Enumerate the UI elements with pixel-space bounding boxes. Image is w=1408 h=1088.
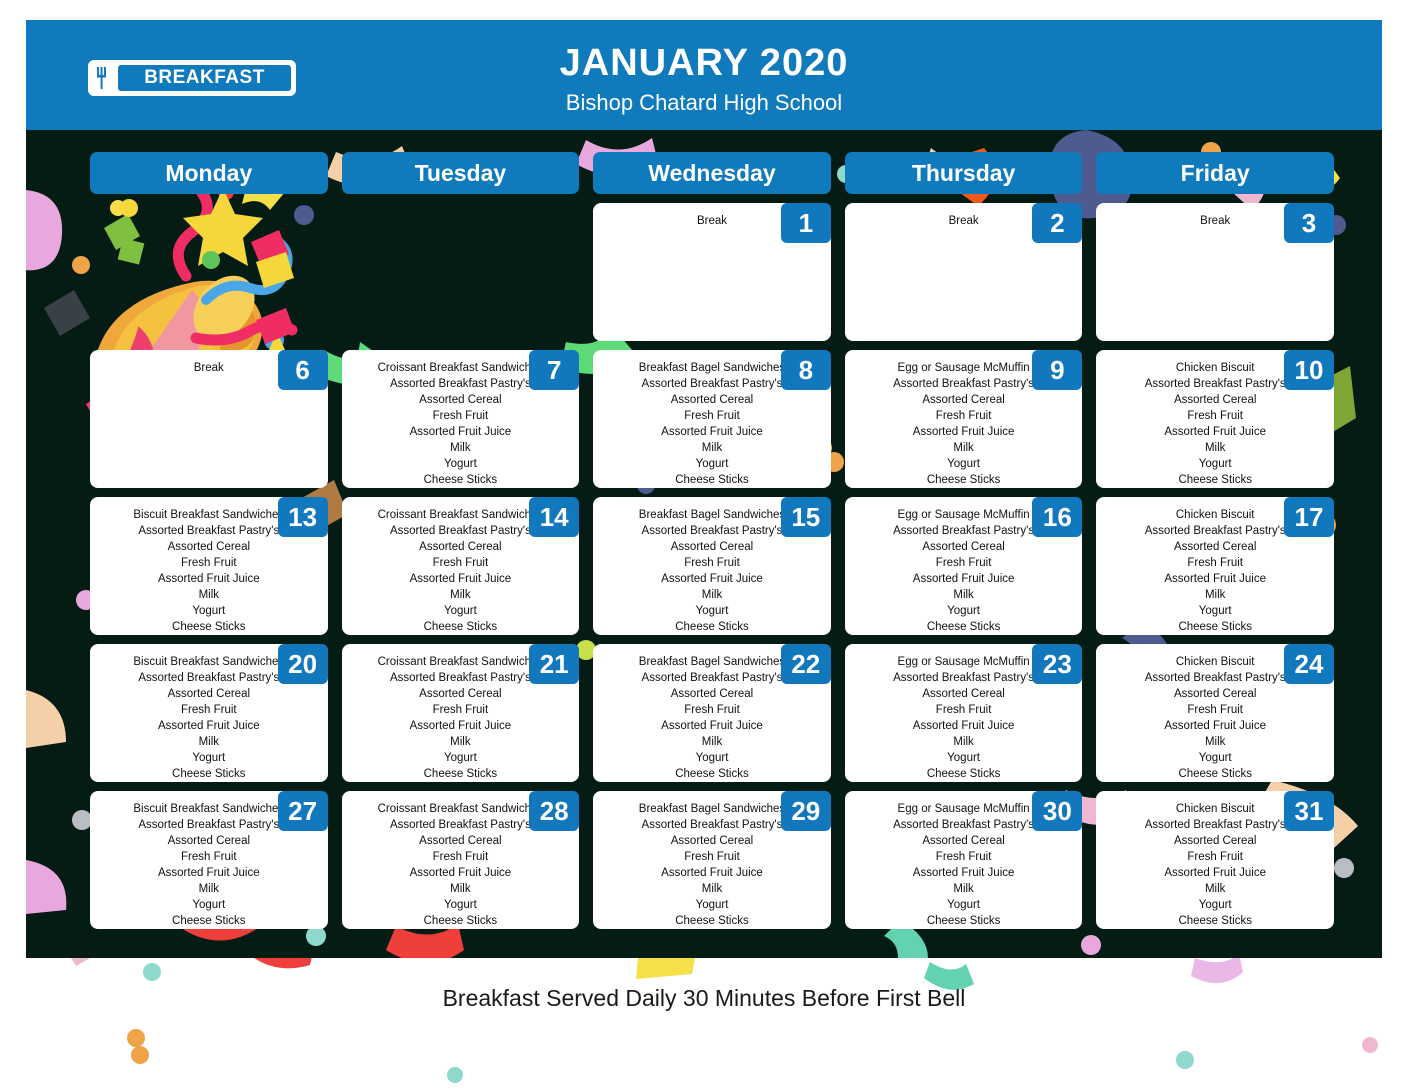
day-cell[interactable]: Break1 [593,203,831,341]
day-number-badge: 6 [278,350,328,390]
menu-item: Milk [1102,440,1328,456]
menu-item: Fresh Fruit [599,849,825,865]
menu-item: Yogurt [599,897,825,913]
menu-item: Cheese Sticks [851,472,1077,488]
menu-item: Yogurt [1102,456,1328,472]
calendar-panel: MondayTuesdayWednesdayThursdayFridayBrea… [26,130,1382,958]
menu-item: Fresh Fruit [599,702,825,718]
weekday-header-tuesday: Tuesday [342,152,580,194]
menu-item: Milk [348,881,574,897]
menu-item: Fresh Fruit [599,555,825,571]
menu-item: Yogurt [96,897,322,913]
menu-item: Cheese Sticks [1102,472,1328,488]
menu-item: Milk [599,440,825,456]
menu-item: Yogurt [348,456,574,472]
day-cell[interactable]: Breakfast Bagel SandwichesAssorted Break… [593,350,831,488]
menu-item: Milk [348,587,574,603]
menu-item: Assorted Cereal [348,392,574,408]
menu-item: Fresh Fruit [851,555,1077,571]
menu-item: Assorted Cereal [851,686,1077,702]
day-cell[interactable]: Egg or Sausage McMuffinAssorted Breakfas… [845,791,1083,929]
day-cell[interactable]: Biscuit Breakfast SandwichesAssorted Bre… [90,644,328,782]
menu-item: Milk [851,587,1077,603]
menu-item: Assorted Fruit Juice [348,718,574,734]
day-cell[interactable]: Break2 [845,203,1083,341]
day-cell-empty [90,203,328,341]
menu-item: Milk [96,734,322,750]
menu-item: Assorted Cereal [851,539,1077,555]
menu-item: Yogurt [599,603,825,619]
menu-item: Assorted Cereal [96,686,322,702]
menu-item: Assorted Fruit Juice [348,424,574,440]
menu-item: Assorted Cereal [599,539,825,555]
menu-item: Milk [1102,881,1328,897]
menu-item: Yogurt [851,456,1077,472]
menu-item: Cheese Sticks [599,766,825,782]
day-number-badge: 8 [781,350,831,390]
menu-item: Milk [599,881,825,897]
day-cell[interactable]: Chicken BiscuitAssorted Breakfast Pastry… [1096,350,1334,488]
day-number-badge: 31 [1284,791,1334,831]
menu-item: Milk [96,587,322,603]
menu-item: Assorted Fruit Juice [851,865,1077,881]
menu-item: Fresh Fruit [348,849,574,865]
menu-item: Milk [851,734,1077,750]
menu-item: Cheese Sticks [851,766,1077,782]
day-number-badge: 28 [529,791,579,831]
menu-item: Assorted Fruit Juice [599,571,825,587]
menu-item: Yogurt [851,897,1077,913]
day-cell[interactable]: Egg or Sausage McMuffinAssorted Breakfas… [845,497,1083,635]
menu-item: Cheese Sticks [96,766,322,782]
day-number-badge: 14 [529,497,579,537]
menu-item: Fresh Fruit [599,408,825,424]
menu-item: Assorted Cereal [599,833,825,849]
footer-note: Breakfast Served Daily 30 Minutes Before… [0,985,1408,1012]
day-cell[interactable]: Breakfast Bagel SandwichesAssorted Break… [593,791,831,929]
menu-item: Assorted Cereal [1102,392,1328,408]
menu-item: Yogurt [348,750,574,766]
menu-item: Milk [1102,587,1328,603]
menu-item: Assorted Fruit Juice [1102,424,1328,440]
menu-item: Cheese Sticks [348,472,574,488]
menu-item: Yogurt [599,456,825,472]
menu-item: Assorted Cereal [348,833,574,849]
menu-item: Fresh Fruit [1102,555,1328,571]
menu-item: Yogurt [348,897,574,913]
menu-item: Assorted Cereal [851,833,1077,849]
day-number-badge: 20 [278,644,328,684]
weekday-header-friday: Friday [1096,152,1334,194]
menu-item: Fresh Fruit [348,702,574,718]
menu-item: Assorted Fruit Juice [1102,571,1328,587]
day-number-badge: 21 [529,644,579,684]
menu-item: Assorted Cereal [1102,539,1328,555]
day-cell[interactable]: Chicken BiscuitAssorted Breakfast Pastry… [1096,497,1334,635]
day-cell[interactable]: Egg or Sausage McMuffinAssorted Breakfas… [845,644,1083,782]
menu-item: Yogurt [96,603,322,619]
menu-item: Cheese Sticks [1102,913,1328,929]
menu-item: Fresh Fruit [1102,849,1328,865]
menu-item: Assorted Cereal [851,392,1077,408]
weekday-header-monday: Monday [90,152,328,194]
menu-item: Assorted Fruit Juice [599,424,825,440]
menu-item: Assorted Fruit Juice [851,571,1077,587]
day-number-badge: 24 [1284,644,1334,684]
menu-item: Fresh Fruit [96,702,322,718]
menu-item: Fresh Fruit [348,555,574,571]
menu-item: Yogurt [96,750,322,766]
menu-item: Assorted Fruit Juice [851,424,1077,440]
calendar-header: BREAKFAST JANUARY 2020 Bishop Chatard Hi… [26,20,1382,130]
menu-item: Assorted Cereal [96,833,322,849]
menu-item: Fresh Fruit [1102,702,1328,718]
day-number-badge: 16 [1032,497,1082,537]
day-number-badge: 9 [1032,350,1082,390]
menu-item: Milk [599,734,825,750]
day-cell[interactable]: Egg or Sausage McMuffinAssorted Breakfas… [845,350,1083,488]
menu-item: Milk [348,440,574,456]
menu-item: Assorted Cereal [599,686,825,702]
menu-item: Milk [851,881,1077,897]
menu-item: Assorted Fruit Juice [599,865,825,881]
menu-item: Fresh Fruit [96,849,322,865]
menu-item: Yogurt [348,603,574,619]
day-number-badge: 27 [278,791,328,831]
day-cell[interactable]: Chicken BiscuitAssorted Breakfast Pastry… [1096,644,1334,782]
menu-item: Assorted Fruit Juice [348,571,574,587]
day-number-badge: 2 [1032,203,1082,243]
menu-item: Fresh Fruit [851,702,1077,718]
menu-item: Assorted Fruit Juice [96,865,322,881]
menu-item: Milk [851,440,1077,456]
school-name: Bishop Chatard High School [26,90,1382,116]
day-number-badge: 29 [781,791,831,831]
menu-item: Fresh Fruit [851,408,1077,424]
menu-item: Cheese Sticks [96,619,322,635]
day-cell[interactable]: Break6 [90,350,328,488]
menu-item: Assorted Fruit Juice [1102,865,1328,881]
calendar-grid: MondayTuesdayWednesdayThursdayFridayBrea… [90,152,1334,929]
day-cell[interactable]: Breakfast Bagel SandwichesAssorted Break… [593,497,831,635]
menu-item: Cheese Sticks [1102,619,1328,635]
menu-item: Assorted Cereal [96,539,322,555]
menu-item: Yogurt [1102,897,1328,913]
day-cell-empty [342,203,580,341]
menu-item: Assorted Fruit Juice [599,718,825,734]
menu-item: Cheese Sticks [599,619,825,635]
day-number-badge: 17 [1284,497,1334,537]
menu-item: Fresh Fruit [1102,408,1328,424]
menu-item: Assorted Fruit Juice [96,571,322,587]
menu-item: Assorted Cereal [348,539,574,555]
weekday-header-wednesday: Wednesday [593,152,831,194]
day-cell[interactable]: Croissant Breakfast SandwichesAssorted B… [342,497,580,635]
menu-item: Cheese Sticks [599,472,825,488]
menu-item: Cheese Sticks [348,913,574,929]
day-cell[interactable]: Croissant Breakfast SandwichesAssorted B… [342,644,580,782]
menu-item: Assorted Fruit Juice [1102,718,1328,734]
menu-item: Yogurt [1102,750,1328,766]
day-cell[interactable]: Break3 [1096,203,1334,341]
menu-item: Fresh Fruit [348,408,574,424]
day-cell[interactable]: Croissant Breakfast SandwichesAssorted B… [342,350,580,488]
menu-item: Assorted Cereal [599,392,825,408]
menu-item: Yogurt [1102,603,1328,619]
menu-item: Fresh Fruit [851,849,1077,865]
day-cell[interactable]: Biscuit Breakfast SandwichesAssorted Bre… [90,497,328,635]
day-number-badge: 22 [781,644,831,684]
day-number-badge: 1 [781,203,831,243]
menu-item: Cheese Sticks [1102,766,1328,782]
day-number-badge: 30 [1032,791,1082,831]
menu-item: Cheese Sticks [96,913,322,929]
menu-item: Assorted Cereal [1102,686,1328,702]
menu-item: Cheese Sticks [348,619,574,635]
menu-item: Milk [348,734,574,750]
menu-item: Yogurt [851,603,1077,619]
day-cell[interactable]: Croissant Breakfast SandwichesAssorted B… [342,791,580,929]
menu-item: Fresh Fruit [96,555,322,571]
menu-item: Assorted Fruit Juice [348,865,574,881]
menu-item: Yogurt [599,750,825,766]
menu-item: Milk [1102,734,1328,750]
day-cell[interactable]: Chicken BiscuitAssorted Breakfast Pastry… [1096,791,1334,929]
day-number-badge: 23 [1032,644,1082,684]
day-number-badge: 15 [781,497,831,537]
day-number-badge: 10 [1284,350,1334,390]
menu-item: Cheese Sticks [348,766,574,782]
page-title: JANUARY 2020 [26,42,1382,85]
menu-item: Yogurt [851,750,1077,766]
menu-item: Assorted Fruit Juice [96,718,322,734]
day-cell[interactable]: Biscuit Breakfast SandwichesAssorted Bre… [90,791,328,929]
day-number-badge: 7 [529,350,579,390]
day-number-badge: 3 [1284,203,1334,243]
menu-item: Assorted Cereal [1102,833,1328,849]
menu-item: Assorted Cereal [348,686,574,702]
day-number-badge: 13 [278,497,328,537]
menu-item: Cheese Sticks [851,913,1077,929]
menu-item: Assorted Fruit Juice [851,718,1077,734]
menu-item: Milk [599,587,825,603]
menu-item: Cheese Sticks [599,913,825,929]
day-cell[interactable]: Breakfast Bagel SandwichesAssorted Break… [593,644,831,782]
weekday-header-thursday: Thursday [845,152,1083,194]
menu-item: Milk [96,881,322,897]
menu-item: Cheese Sticks [851,619,1077,635]
